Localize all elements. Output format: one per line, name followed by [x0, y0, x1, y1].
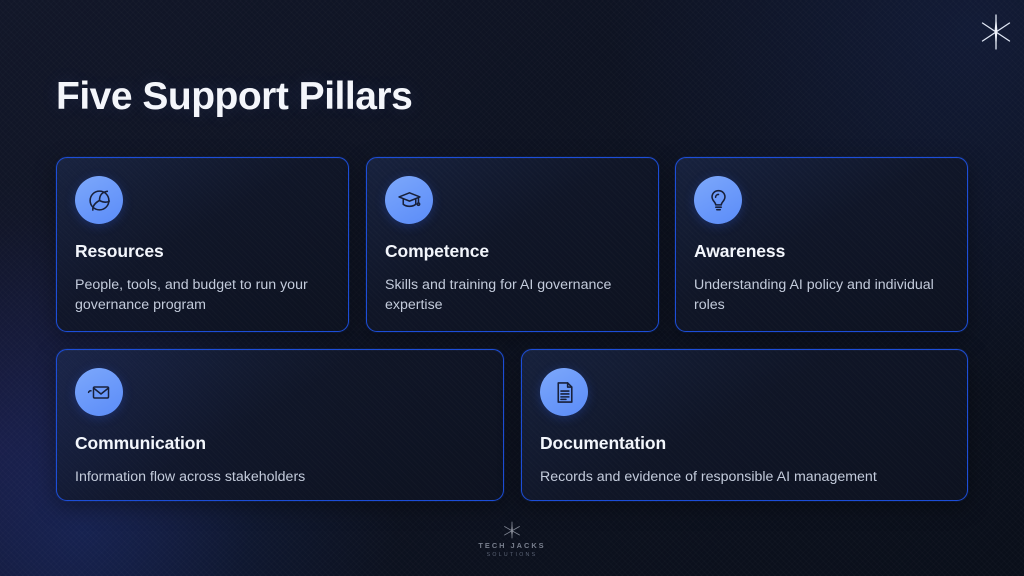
- sphere-icon: [75, 176, 123, 224]
- footer-tagline: SOLUTIONS: [487, 552, 538, 558]
- card-title: Competence: [385, 241, 489, 262]
- card-resources[interactable]: Resources People, tools, and budget to r…: [56, 157, 349, 332]
- card-awareness[interactable]: Awareness Understanding AI policy and in…: [675, 157, 968, 332]
- star-icon: [499, 520, 525, 540]
- card-title: Awareness: [694, 241, 785, 262]
- lightbulb-icon: [694, 176, 742, 224]
- footer-logo: TECH JACKS SOLUTIONS: [0, 520, 1024, 558]
- card-description: Information flow across stakeholders: [75, 467, 495, 487]
- footer-brand: TECH JACKS: [478, 541, 545, 550]
- graduation-cap-icon: [385, 176, 433, 224]
- card-documentation[interactable]: Documentation Records and evidence of re…: [521, 349, 968, 501]
- card-description: Records and evidence of responsible AI m…: [540, 467, 960, 487]
- card-title: Resources: [75, 241, 164, 262]
- card-description: Understanding AI policy and individual r…: [694, 275, 944, 315]
- card-competence[interactable]: Competence Skills and training for AI go…: [366, 157, 659, 332]
- card-communication[interactable]: Communication Information flow across st…: [56, 349, 504, 501]
- envelope-icon: [75, 368, 123, 416]
- slide-canvas: Five Support Pillars Resources People, t…: [0, 0, 1024, 576]
- card-title: Documentation: [540, 433, 666, 454]
- sparkle-star-icon: [974, 10, 1018, 54]
- card-description: Skills and training for AI governance ex…: [385, 275, 635, 315]
- document-icon: [540, 368, 588, 416]
- card-title: Communication: [75, 433, 206, 454]
- page-title: Five Support Pillars: [56, 75, 412, 119]
- card-description: People, tools, and budget to run your go…: [75, 275, 325, 315]
